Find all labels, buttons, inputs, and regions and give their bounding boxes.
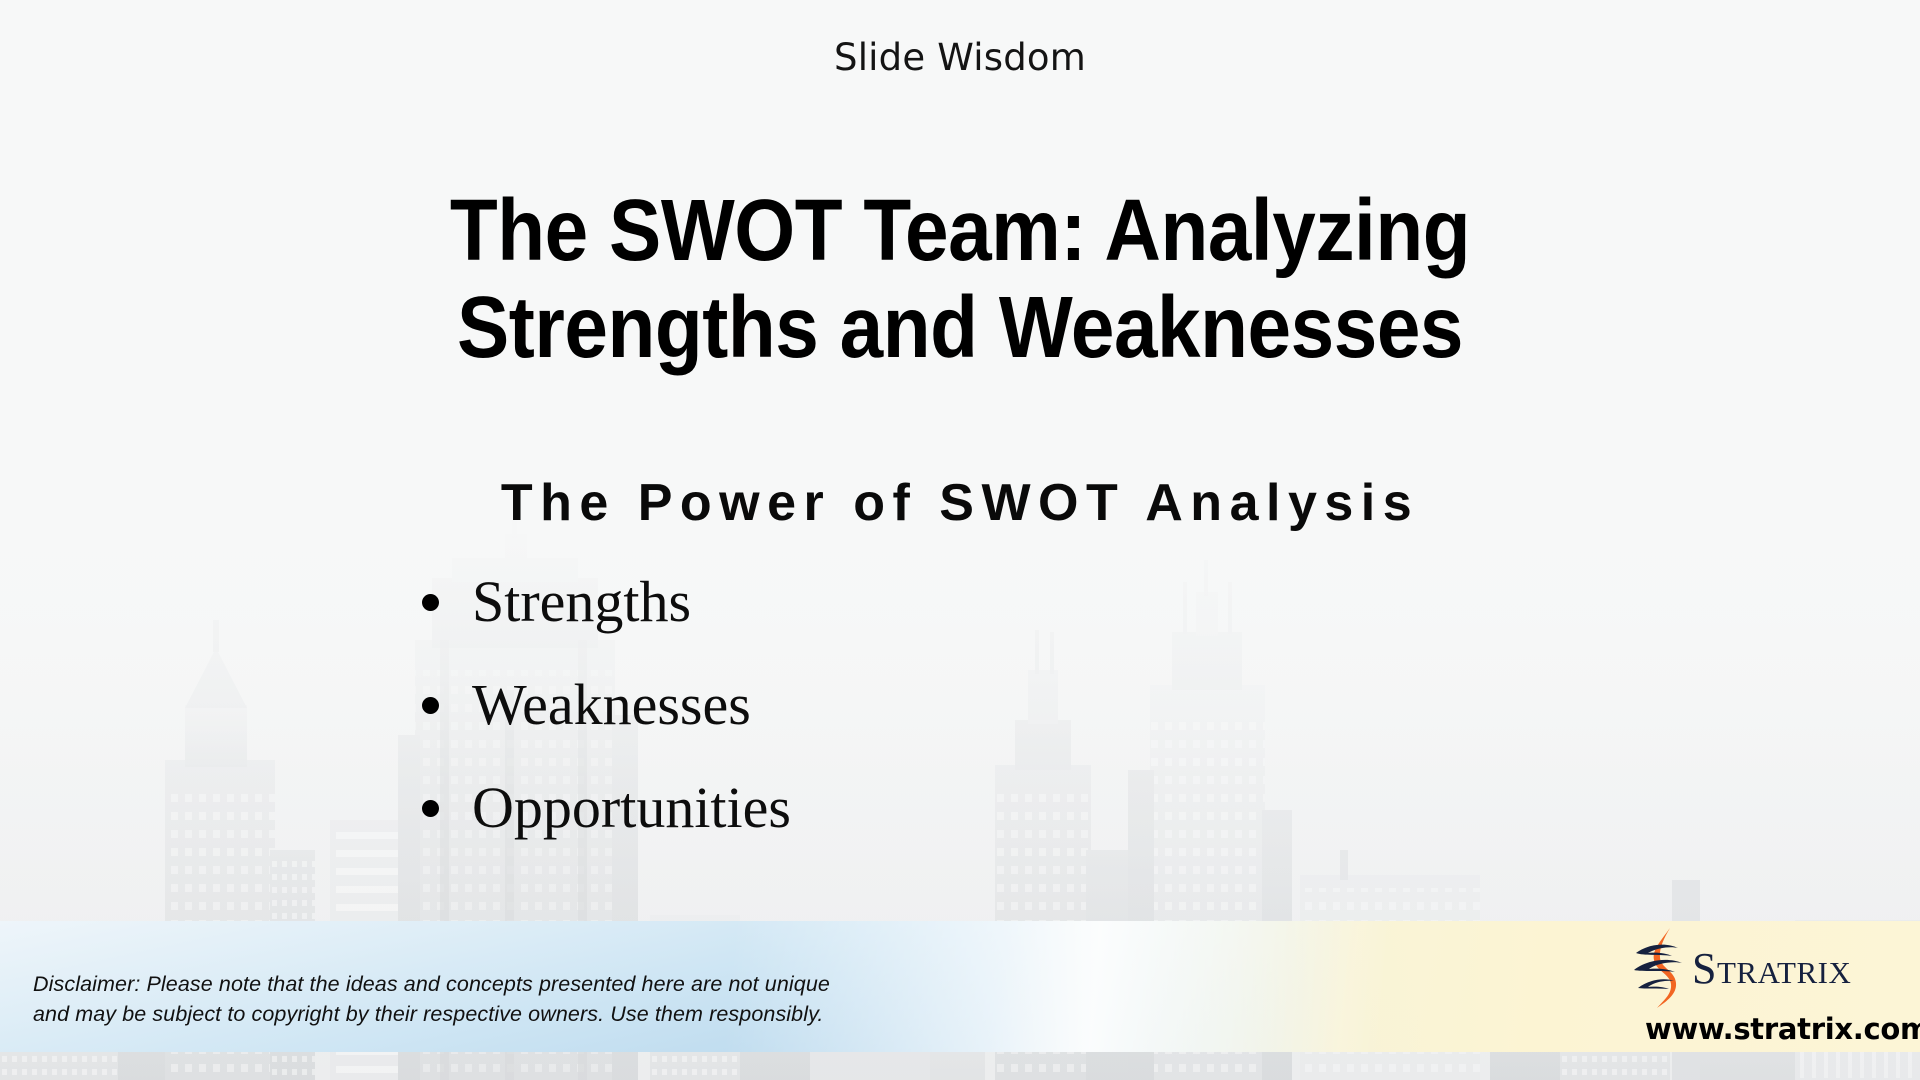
- list-item: Opportunities: [420, 771, 1520, 845]
- logo-website-url[interactable]: www.stratrix.com: [1645, 1012, 1920, 1046]
- list-item: Strengths: [420, 565, 1520, 639]
- bullet-point-icon: [422, 800, 439, 817]
- disclaimer-line-2: and may be subject to copyright by their…: [33, 1000, 1033, 1030]
- slide-title-line-2: Strengths and Weaknesses: [276, 279, 1644, 376]
- list-item-label: Strengths: [472, 569, 691, 634]
- disclaimer-line-1: Disclaimer: Please note that the ideas a…: [33, 970, 1033, 1000]
- slide-subtitle: The Power of SWOT Analysis: [160, 473, 1760, 533]
- bullet-point-icon: [422, 594, 439, 611]
- logo-lockup: Stratrix: [1630, 928, 1905, 1010]
- list-item: Weaknesses: [420, 668, 1520, 742]
- presentation-slide: Slide Wisdom The SWOT Team: Analyzing St…: [0, 0, 1920, 1080]
- bullet-list: Strengths Weaknesses Opportunities: [420, 565, 1520, 875]
- logo-wordmark: Stratrix: [1692, 947, 1851, 991]
- slide-content: Slide Wisdom The SWOT Team: Analyzing St…: [0, 0, 1920, 1080]
- list-item-label: Opportunities: [472, 775, 791, 840]
- slide-title-line-1: The SWOT Team: Analyzing: [276, 182, 1644, 279]
- list-item-label: Weaknesses: [472, 672, 751, 737]
- bullet-point-icon: [422, 697, 439, 714]
- slide-eyebrow-label: Slide Wisdom: [0, 36, 1920, 79]
- disclaimer-text: Disclaimer: Please note that the ideas a…: [33, 970, 1033, 1029]
- slide-title: The SWOT Team: Analyzing Strengths and W…: [276, 182, 1644, 377]
- stratrix-logo[interactable]: Stratrix www.stratrix.com: [1630, 928, 1905, 1053]
